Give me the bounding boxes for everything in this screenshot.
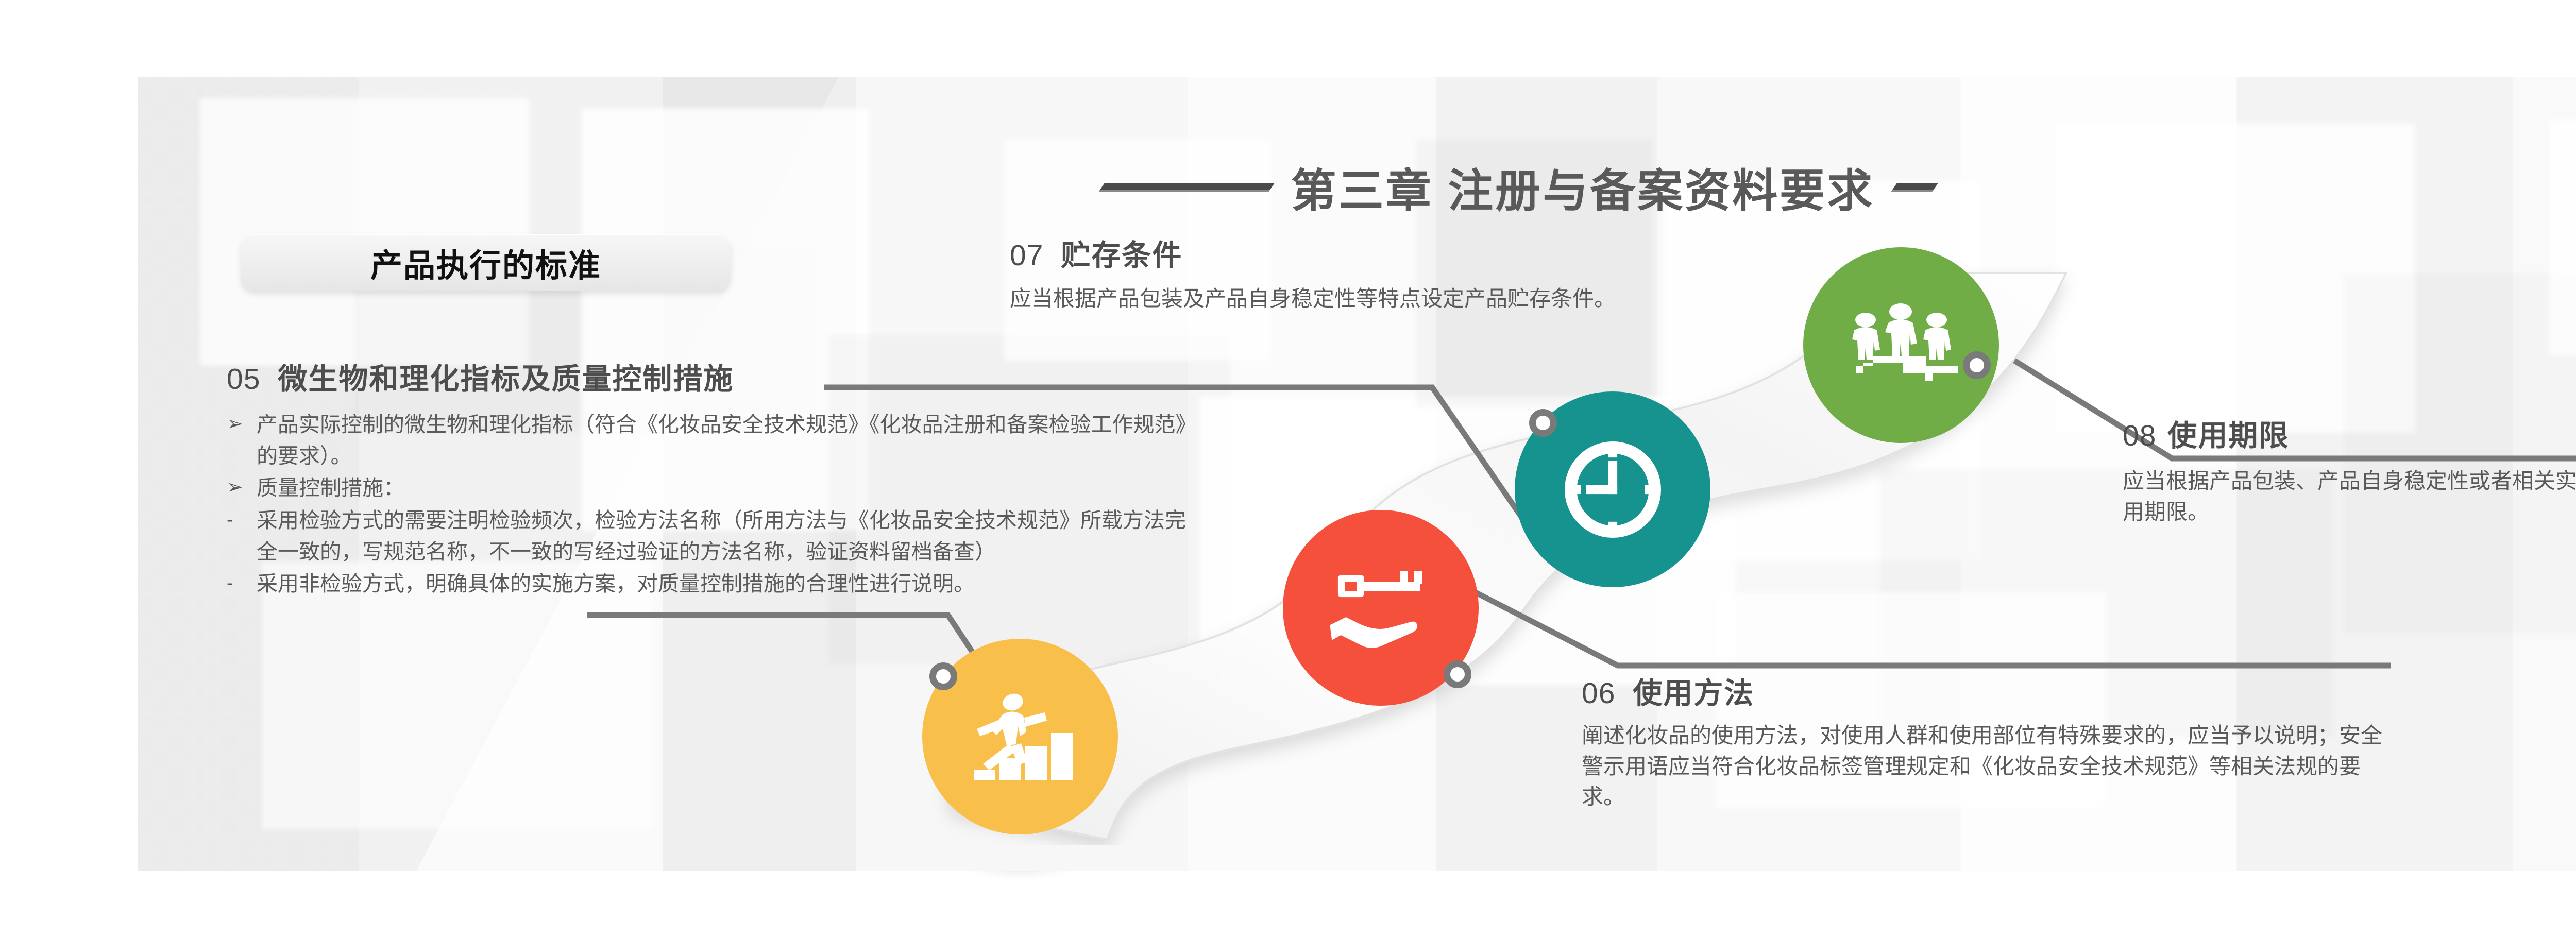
anchor-dot-06 — [1444, 660, 1471, 688]
list-item: ➢ 质量控制措施： — [227, 472, 1195, 504]
standards-pill[interactable]: 产品执行的标准 — [241, 234, 731, 291]
section-07: 07贮存条件 应当根据产品包装及产品自身稳定性等特点设定产品贮存条件。 — [1010, 232, 1690, 314]
standards-pill-label: 产品执行的标准 — [370, 240, 601, 286]
section-07-body-text: 应当根据产品包装及产品自身稳定性等特点设定产品贮存条件。 — [1010, 283, 1654, 314]
person-climbing-bars-icon — [963, 688, 1077, 786]
anchor-dot-05 — [929, 662, 957, 690]
anchor-dot-08 — [1963, 351, 1991, 379]
anchor-dot-07 — [1529, 409, 1557, 437]
bullet-marker: - — [227, 568, 257, 599]
clock-icon — [1557, 434, 1668, 545]
hand-holding-key-icon — [1326, 563, 1436, 653]
title-rule-left — [1098, 183, 1275, 192]
section-06-name: 使用方法 — [1633, 677, 1754, 710]
bullet-text: 采用检验方式的需要注明检验频次，检验方法名称（所用方法与《化妆品安全技术规范》所… — [257, 505, 1195, 567]
bullet-text: 质量控制措施： — [257, 472, 1195, 504]
section-08: 08使用期限 应当根据产品包装、产品自身稳定性或者相关实验结果，设定产品的使用期… — [2123, 412, 2576, 527]
section-06-heading: 06使用方法 — [1582, 670, 2406, 712]
section-06: 06使用方法 阐述化妆品的使用方法，对使用人群和使用部位有特殊要求的，应当予以说… — [1582, 670, 2406, 812]
bullet-text: 采用非检验方式，明确具体的实施方案，对质量控制措施的合理性进行说明。 — [257, 568, 1195, 600]
node-08-people-podium[interactable] — [1803, 247, 1999, 443]
section-05-bullets: ➢ 产品实际控制的微生物和理化指标（符合《化妆品安全技术规范》《化妆品注册和备案… — [227, 409, 1195, 600]
section-07-name: 贮存条件 — [1061, 239, 1182, 272]
node-07-clock[interactable] — [1515, 391, 1710, 587]
node-06-hand-holding-key[interactable] — [1283, 510, 1479, 706]
bullet-text: 产品实际控制的微生物和理化指标（符合《化妆品安全技术规范》《化妆品注册和备案检验… — [257, 409, 1195, 471]
section-06-body-text: 阐述化妆品的使用方法，对使用人群和使用部位有特殊要求的，应当予以说明；安全警示用… — [1582, 720, 2385, 812]
list-item: - 采用非检验方式，明确具体的实施方案，对质量控制措施的合理性进行说明。 — [227, 568, 1195, 600]
section-08-number: 08 — [2123, 419, 2156, 452]
slide-canvas: 第三章 注册与备案资料要求 产品执行的标准 — [0, 0, 2576, 937]
node-05-person-climbing-bars[interactable] — [922, 639, 1118, 834]
section-05-name: 微生物和理化指标及质量控制措施 — [278, 363, 734, 396]
list-item: ➢ 产品实际控制的微生物和理化指标（符合《化妆品安全技术规范》《化妆品注册和备案… — [227, 409, 1195, 471]
title-rule-right — [1891, 183, 1938, 192]
bullet-marker: ➢ — [227, 472, 257, 503]
section-08-body: 应当根据产品包装、产品自身稳定性或者相关实验结果，设定产品的使用期限。 — [2123, 466, 2576, 527]
section-08-heading: 08使用期限 — [2123, 412, 2576, 454]
section-07-number: 07 — [1010, 239, 1043, 272]
people-podium-icon — [1842, 301, 1960, 389]
leader-line-06 — [1463, 587, 2391, 680]
bullet-marker: - — [227, 505, 257, 535]
section-06-body: 阐述化妆品的使用方法，对使用人群和使用部位有特殊要求的，应当予以说明；安全警示用… — [1582, 720, 2385, 812]
list-item: - 采用检验方式的需要注明检验频次，检验方法名称（所用方法与《化妆品安全技术规范… — [227, 505, 1195, 567]
section-05: 05微生物和理化指标及质量控制措施 ➢ 产品实际控制的微生物和理化指标（符合《化… — [227, 355, 1195, 601]
section-06-number: 06 — [1582, 677, 1615, 710]
bullet-marker: ➢ — [227, 409, 257, 439]
section-05-number: 05 — [227, 363, 260, 396]
section-08-name: 使用期限 — [2167, 419, 2289, 452]
section-07-body: 应当根据产品包装及产品自身稳定性等特点设定产品贮存条件。 — [1010, 283, 1654, 314]
section-05-heading: 05微生物和理化指标及质量控制措施 — [227, 355, 1195, 398]
section-07-heading: 07贮存条件 — [1010, 232, 1690, 274]
section-08-body-text: 应当根据产品包装、产品自身稳定性或者相关实验结果，设定产品的使用期限。 — [2123, 466, 2576, 527]
